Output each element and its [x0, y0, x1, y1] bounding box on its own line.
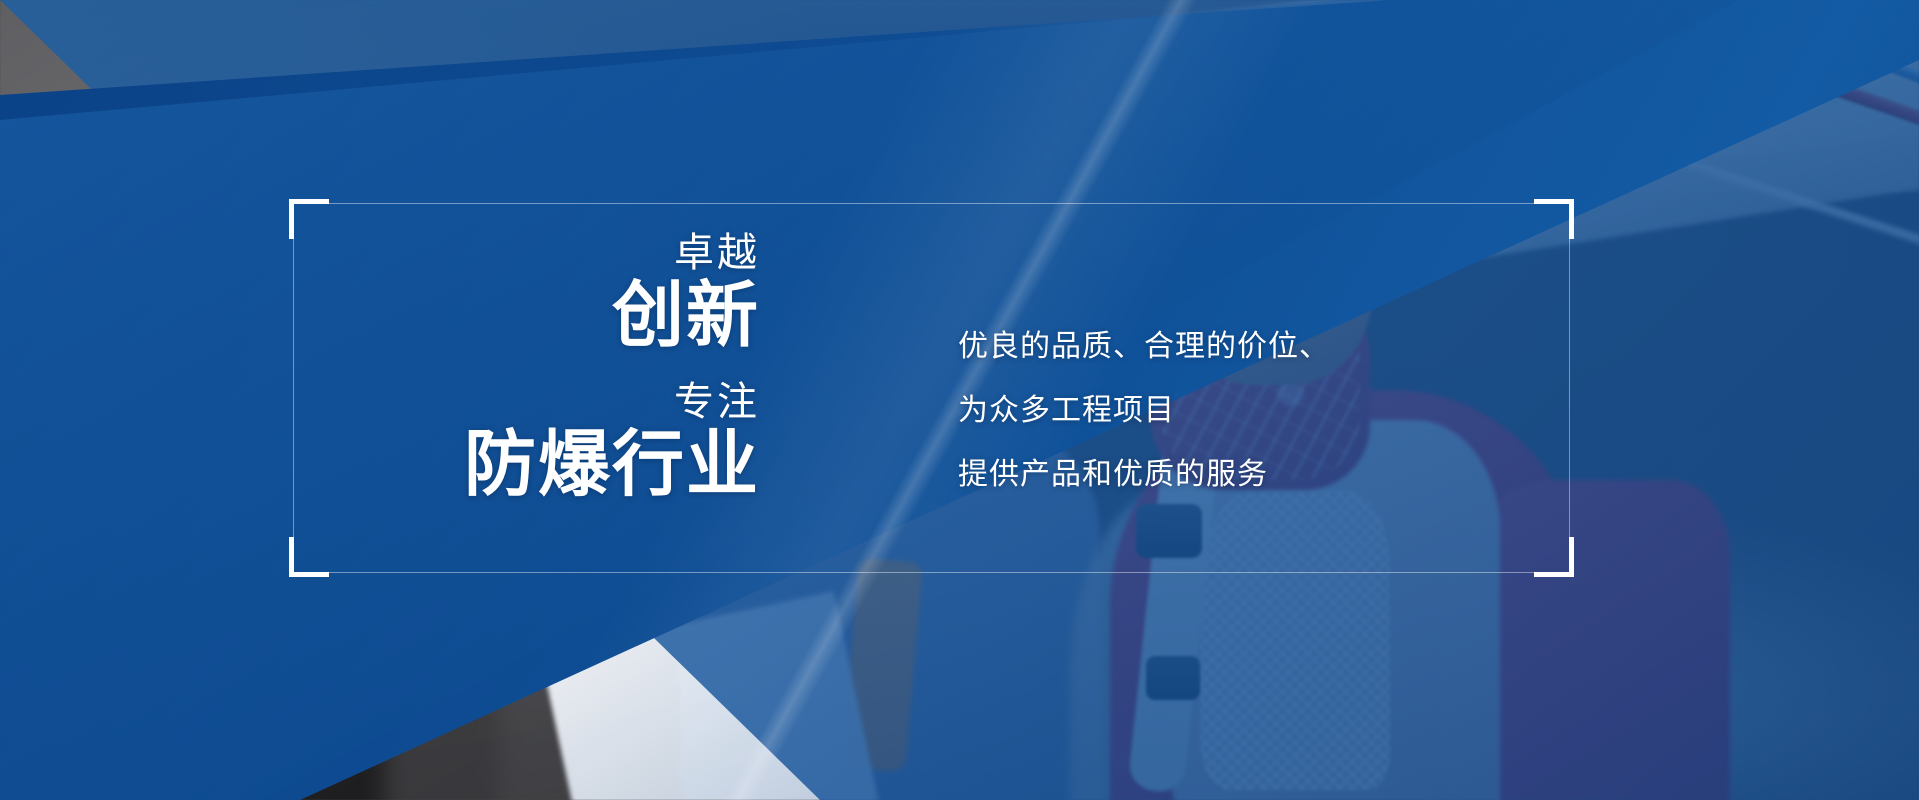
- tagline-block: 优良的品质、合理的价位、 为众多工程项目 提供产品和优质的服务: [958, 315, 1330, 507]
- tagline-line-1: 优良的品质、合理的价位、: [958, 315, 1330, 379]
- tagline-line-3: 提供产品和优质的服务: [958, 443, 1330, 507]
- headline-line-innovation: 创新: [300, 276, 760, 357]
- headline-line-excellence: 卓越: [300, 230, 760, 276]
- hero-banner: 卓越 创新 专注 防爆行业 优良的品质、合理的价位、 为众多工程项目 提供产品和…: [0, 0, 1919, 800]
- headline-block: 卓越 创新 专注 防爆行业: [300, 230, 760, 506]
- tagline-line-2: 为众多工程项目: [958, 379, 1330, 443]
- headline-line-focus: 专注: [300, 379, 760, 425]
- headline-line-industry: 防爆行业: [300, 425, 760, 506]
- banner-content: 卓越 创新 专注 防爆行业 优良的品质、合理的价位、 为众多工程项目 提供产品和…: [0, 0, 1919, 800]
